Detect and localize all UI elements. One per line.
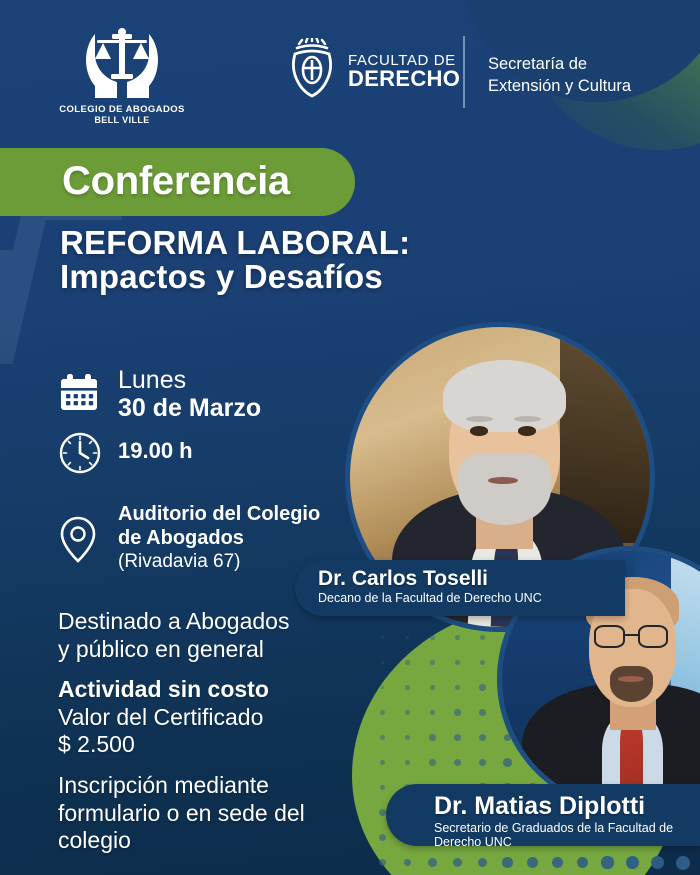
audience-line1: Destinado a Abogados bbox=[58, 608, 305, 636]
speaker-2-name: Dr. Matias Diplotti bbox=[434, 793, 645, 819]
event-place-line3: (Rivadavia 67) bbox=[118, 550, 320, 574]
cost-block: Actividad sin costo Valor del Certificad… bbox=[58, 676, 305, 759]
header-divider bbox=[463, 36, 465, 108]
speaker-1-name-pill: Dr. Carlos Toselli Decano de la Facultad… bbox=[295, 560, 625, 616]
speaker-1-name: Dr. Carlos Toselli bbox=[318, 568, 488, 590]
event-day-date: 30 de Marzo bbox=[118, 394, 261, 423]
audience-block: Destinado a Abogados y público en genera… bbox=[58, 608, 305, 663]
secretaria-label: Secretaría de Extensión y Cultura bbox=[488, 54, 631, 98]
unc-crest-icon bbox=[287, 38, 337, 105]
speaker-2-role: Secretario de Graduados de la Facultad d… bbox=[434, 822, 700, 850]
calendar-icon bbox=[56, 366, 118, 414]
clock-icon bbox=[56, 429, 118, 475]
event-place-row: Auditorio del Colegio de Abogados (Rivad… bbox=[56, 501, 320, 574]
registration-line3: colegio bbox=[58, 827, 305, 855]
registration-block: Inscripción mediante formulario o en sed… bbox=[58, 772, 305, 855]
facultad-logo-line2: DERECHO bbox=[348, 68, 460, 90]
event-time-row: 19.00 h bbox=[56, 429, 320, 475]
event-place-line2: de Abogados bbox=[118, 526, 320, 550]
event-day-name: Lunes bbox=[118, 367, 261, 394]
registration-line2: formulario o en sede del bbox=[58, 800, 305, 828]
title-line1: REFORMA LABORAL: bbox=[60, 226, 410, 260]
facultad-de-derecho-logo: FACULTAD DE DERECHO bbox=[287, 38, 460, 105]
conferencia-banner-label: Conferencia bbox=[62, 159, 290, 204]
conference-poster: COLEGIO DE ABOGADOS BELL VILLE FACULTAD … bbox=[0, 0, 700, 875]
poster-header: COLEGIO DE ABOGADOS BELL VILLE FACULTAD … bbox=[0, 0, 700, 140]
page-title: REFORMA LABORAL: Impactos y Desafíos bbox=[60, 226, 410, 295]
colegio-logo-line2: BELL VILLE bbox=[58, 115, 186, 125]
registration-line1: Inscripción mediante bbox=[58, 772, 305, 800]
certificate-price: $ 2.500 bbox=[58, 731, 305, 759]
event-time-value: 19.00 h bbox=[118, 429, 193, 464]
title-line2: Impactos y Desafíos bbox=[60, 260, 410, 294]
certificate-label: Valor del Certificado bbox=[58, 704, 305, 732]
secretaria-line2: Extensión y Cultura bbox=[488, 76, 631, 98]
speaker-1-role: Decano de la Facultad de Derecho UNC bbox=[318, 592, 542, 606]
audience-line2: y público en general bbox=[58, 636, 305, 664]
secretaria-line1: Secretaría de bbox=[488, 54, 631, 76]
speaker-2-name-pill: Dr. Matias Diplotti Secretario de Gradua… bbox=[386, 784, 700, 846]
event-info: Lunes 30 de Marzo 19.00 h bbox=[56, 366, 320, 574]
colegio-logo-line1: COLEGIO DE ABOGADOS bbox=[58, 104, 186, 115]
event-place-line1: Auditorio del Colegio bbox=[118, 502, 320, 526]
event-details-copy: Destinado a Abogados y público en genera… bbox=[58, 608, 305, 868]
event-date-row: Lunes 30 de Marzo bbox=[56, 366, 320, 423]
scales-of-justice-hands-logo-icon bbox=[58, 26, 186, 102]
colegio-de-abogados-logo: COLEGIO DE ABOGADOS BELL VILLE bbox=[58, 26, 186, 136]
conferencia-banner: Conferencia bbox=[0, 148, 355, 216]
free-activity-label: Actividad sin costo bbox=[58, 676, 305, 704]
location-pin-icon bbox=[56, 501, 118, 565]
